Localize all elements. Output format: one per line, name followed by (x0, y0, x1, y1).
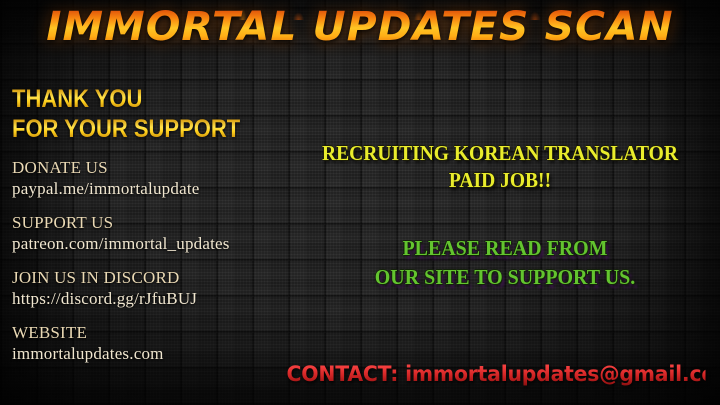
support-column: THANK YOU FOR YOUR SUPPORT DONATE US pay… (12, 84, 302, 364)
read-from-site-appeal: PLEASE READ FROM OUR SITE TO SUPPORT US. (300, 234, 710, 292)
support-entry-donate: DONATE US paypal.me/immortalupdate (12, 157, 302, 199)
support-entry-label: WEBSITE (12, 322, 302, 343)
support-entry-value[interactable]: immortalupdates.com (12, 343, 302, 364)
recruiting-line-1: RECRUITING KOREAN TRANSLATOR (305, 140, 696, 167)
contact-email-line[interactable]: CONTACT: immortalupdates@gmail.com (286, 360, 705, 388)
support-entry-website: WEBSITE immortalupdates.com (12, 322, 302, 364)
support-entry-value[interactable]: patreon.com/immortal_updates (12, 233, 302, 254)
support-headline-line1: THANK YOU (12, 84, 267, 114)
support-entry-label: JOIN US IN DISCORD (12, 267, 302, 288)
appeal-line-2: OUR SITE TO SUPPORT US. (310, 263, 700, 292)
support-entry-value[interactable]: paypal.me/immortalupdate (12, 178, 302, 199)
support-headline-line2: FOR YOUR SUPPORT (12, 114, 267, 144)
support-entry-label: DONATE US (12, 157, 302, 178)
appeal-line-1: PLEASE READ FROM (310, 234, 700, 263)
support-entry-value[interactable]: https://discord.gg/rJfuBUJ (12, 288, 302, 309)
banner-title: IMMORTAL UPDATES SCAN (0, 2, 720, 52)
support-entry-label: SUPPORT US (12, 212, 302, 233)
support-entry-patreon: SUPPORT US patreon.com/immortal_updates (12, 212, 302, 254)
support-entry-discord: JOIN US IN DISCORD https://discord.gg/rJ… (12, 267, 302, 309)
recruiting-notice: RECRUITING KOREAN TRANSLATOR PAID JOB!! (290, 140, 710, 194)
recruiting-line-2: PAID JOB!! (305, 167, 696, 194)
scan-credits-banner: IMMORTAL UPDATES SCAN THANK YOU FOR YOUR… (0, 0, 720, 405)
